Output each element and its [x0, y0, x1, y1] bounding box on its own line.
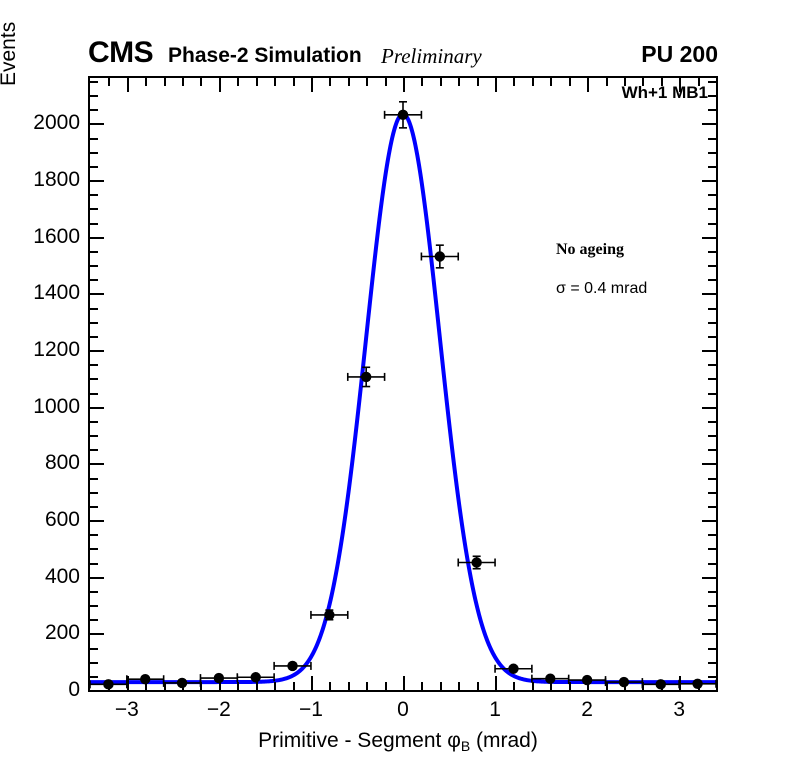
x-tick-minor	[624, 682, 626, 690]
x-tick-minor	[385, 682, 387, 690]
x-tick-label: −1	[281, 699, 341, 720]
x-tick-minor-top	[606, 78, 608, 86]
y-tick-minor	[90, 648, 98, 650]
x-tick-major	[587, 676, 589, 690]
y-tick-major	[90, 180, 104, 182]
y-tick-minor-right	[708, 563, 716, 565]
y-tick-minor-right	[708, 322, 716, 324]
y-tick-minor	[90, 548, 98, 550]
y-tick-minor	[90, 223, 98, 225]
x-tick-minor-top	[366, 78, 368, 86]
x-tick-minor-top	[477, 78, 479, 86]
x-tick-minor-top	[458, 78, 460, 86]
x-tick-minor	[200, 682, 202, 690]
cms-logo: CMS	[88, 38, 153, 68]
y-tick-minor	[90, 421, 98, 423]
y-tick-minor	[90, 208, 98, 210]
y-tick-minor	[90, 591, 98, 593]
y-tick-minor	[90, 364, 98, 366]
x-tick-major-top	[127, 78, 129, 92]
y-tick-minor-right	[708, 619, 716, 621]
x-tick-minor	[164, 682, 166, 690]
x-tick-minor-top	[532, 78, 534, 86]
x-tick-minor	[108, 682, 110, 690]
y-tick-label: 1200	[0, 339, 80, 360]
x-tick-label: 2	[557, 699, 617, 720]
y-tick-minor	[90, 81, 98, 83]
x-tick-label: −2	[189, 699, 249, 720]
x-tick-minor	[698, 682, 700, 690]
y-tick-minor	[90, 109, 98, 111]
x-tick-minor-top	[550, 78, 552, 86]
y-tick-major-right	[702, 463, 716, 465]
y-tick-minor-right	[708, 478, 716, 480]
y-tick-major	[90, 123, 104, 125]
y-tick-minor	[90, 308, 98, 310]
x-tick-major	[311, 676, 313, 690]
x-tick-major	[219, 676, 221, 690]
y-tick-minor	[90, 619, 98, 621]
y-tick-minor	[90, 435, 98, 437]
x-tick-minor	[274, 682, 276, 690]
x-tick-minor-top	[293, 78, 295, 86]
x-tick-minor	[661, 682, 663, 690]
y-tick-minor	[90, 138, 98, 140]
y-tick-major	[90, 237, 104, 239]
y-tick-minor-right	[708, 308, 716, 310]
x-tick-minor	[237, 682, 239, 690]
x-tick-major	[679, 676, 681, 690]
y-tick-minor-right	[708, 435, 716, 437]
y-tick-minor-right	[708, 208, 716, 210]
y-tick-minor-right	[708, 166, 716, 168]
y-axis-title: Events	[0, 0, 21, 86]
x-tick-minor	[421, 682, 423, 690]
x-tick-major-top	[495, 78, 497, 92]
y-tick-minor-right	[708, 449, 716, 451]
y-tick-minor-right	[708, 534, 716, 536]
x-tick-minor-top	[421, 78, 423, 86]
y-tick-minor-right	[708, 648, 716, 650]
x-tick-minor	[145, 682, 147, 690]
y-tick-major	[90, 577, 104, 579]
y-tick-major	[90, 690, 104, 692]
x-tick-major-top	[219, 78, 221, 92]
data-points	[90, 102, 716, 690]
x-tick-minor	[642, 682, 644, 690]
y-tick-major	[90, 350, 104, 352]
x-tick-label: 3	[649, 699, 709, 720]
y-tick-major-right	[702, 350, 716, 352]
x-axis-title: Primitive - Segment φB (mrad)	[0, 729, 796, 754]
preliminary-label: Preliminary	[381, 46, 482, 67]
y-tick-minor	[90, 676, 98, 678]
x-tick-minor	[366, 682, 368, 690]
y-tick-minor	[90, 605, 98, 607]
x-tick-minor-top	[237, 78, 239, 86]
axes-frame: Wh+1 MB1 No ageing σ = 0.4 mrad	[88, 76, 718, 692]
y-tick-minor	[90, 152, 98, 154]
y-tick-label: 200	[0, 622, 80, 643]
x-tick-minor	[477, 682, 479, 690]
x-axis-title-post: (mrad)	[470, 729, 538, 752]
y-tick-minor-right	[708, 548, 716, 550]
y-tick-major-right	[702, 633, 716, 635]
data-point	[471, 557, 481, 567]
y-tick-major	[90, 407, 104, 409]
y-tick-minor-right	[708, 421, 716, 423]
y-tick-label: 1800	[0, 169, 80, 190]
x-tick-minor-top	[256, 78, 258, 86]
x-axis-title-pre: Primitive - Segment	[258, 729, 447, 752]
x-tick-minor-top	[440, 78, 442, 86]
y-tick-label: 2000	[0, 112, 80, 133]
y-tick-major-right	[702, 123, 716, 125]
x-tick-minor	[606, 682, 608, 690]
y-tick-minor-right	[708, 393, 716, 395]
y-tick-label: 600	[0, 509, 80, 530]
y-tick-minor-right	[708, 95, 716, 97]
y-tick-minor-right	[708, 378, 716, 380]
y-tick-minor-right	[708, 506, 716, 508]
x-tick-minor	[348, 682, 350, 690]
y-tick-minor	[90, 194, 98, 196]
y-tick-minor	[90, 336, 98, 338]
x-tick-major-top	[679, 78, 681, 92]
data-point	[251, 672, 261, 682]
y-tick-minor-right	[708, 81, 716, 83]
y-tick-minor-right	[708, 279, 716, 281]
y-tick-minor	[90, 506, 98, 508]
x-tick-major	[127, 676, 129, 690]
y-tick-minor-right	[708, 676, 716, 678]
y-tick-major	[90, 463, 104, 465]
y-tick-minor	[90, 662, 98, 664]
x-tick-minor	[513, 682, 515, 690]
x-tick-minor	[182, 682, 184, 690]
y-tick-label: 400	[0, 566, 80, 587]
x-tick-minor	[256, 682, 258, 690]
y-tick-label: 1600	[0, 226, 80, 247]
x-tick-minor	[550, 682, 552, 690]
pileup-label: PU 200	[641, 43, 718, 66]
x-tick-major	[403, 676, 405, 690]
y-tick-minor	[90, 393, 98, 395]
y-tick-minor-right	[708, 591, 716, 593]
y-tick-minor	[90, 378, 98, 380]
y-tick-minor	[90, 478, 98, 480]
phi-subscript: B	[461, 738, 470, 754]
plot-canvas: CMS Phase-2 Simulation Preliminary PU 20…	[0, 0, 796, 772]
x-tick-major-top	[403, 78, 405, 92]
y-tick-major-right	[702, 577, 716, 579]
y-tick-label: 1400	[0, 282, 80, 303]
x-tick-minor-top	[164, 78, 166, 86]
y-tick-major-right	[702, 293, 716, 295]
x-tick-minor-top	[182, 78, 184, 86]
y-tick-major-right	[702, 180, 716, 182]
x-tick-minor-top	[200, 78, 202, 86]
x-tick-major-top	[311, 78, 313, 92]
x-tick-minor	[458, 682, 460, 690]
data-point	[435, 251, 445, 261]
y-tick-minor	[90, 563, 98, 565]
y-tick-minor-right	[708, 492, 716, 494]
data-point	[361, 372, 371, 382]
y-tick-minor	[90, 492, 98, 494]
y-tick-major	[90, 633, 104, 635]
y-tick-minor-right	[708, 662, 716, 664]
x-tick-minor-top	[108, 78, 110, 86]
gaussian-fit-curve	[90, 114, 716, 682]
y-tick-minor-right	[708, 138, 716, 140]
x-tick-minor-top	[348, 78, 350, 86]
y-tick-minor-right	[708, 251, 716, 253]
y-tick-minor	[90, 534, 98, 536]
y-tick-major-right	[702, 237, 716, 239]
y-tick-minor	[90, 251, 98, 253]
simulation-subtitle: Phase-2 Simulation	[168, 45, 362, 66]
y-tick-label: 0	[0, 679, 80, 700]
data-layer	[90, 78, 716, 690]
x-tick-minor	[569, 682, 571, 690]
y-tick-label: 1000	[0, 396, 80, 417]
y-tick-minor-right	[708, 194, 716, 196]
x-tick-minor	[329, 682, 331, 690]
x-tick-minor	[293, 682, 295, 690]
y-tick-minor-right	[708, 364, 716, 366]
y-tick-minor	[90, 449, 98, 451]
x-tick-minor-top	[642, 78, 644, 86]
y-tick-major	[90, 293, 104, 295]
x-tick-minor-top	[569, 78, 571, 86]
x-tick-label: 1	[465, 699, 525, 720]
data-point	[287, 661, 297, 671]
x-tick-major-top	[587, 78, 589, 92]
data-point	[508, 664, 518, 674]
y-tick-label: 800	[0, 452, 80, 473]
y-tick-minor-right	[708, 605, 716, 607]
y-tick-minor	[90, 279, 98, 281]
x-tick-minor	[440, 682, 442, 690]
x-tick-label: 0	[373, 699, 433, 720]
y-tick-minor-right	[708, 109, 716, 111]
x-tick-minor-top	[385, 78, 387, 86]
data-point	[398, 110, 408, 120]
y-tick-minor	[90, 265, 98, 267]
x-tick-minor-top	[145, 78, 147, 86]
y-tick-minor-right	[708, 265, 716, 267]
y-tick-minor-right	[708, 152, 716, 154]
y-tick-major-right	[702, 407, 716, 409]
y-tick-major-right	[702, 690, 716, 692]
y-tick-minor	[90, 166, 98, 168]
phi-symbol: φ	[447, 729, 461, 752]
y-tick-minor-right	[708, 223, 716, 225]
x-tick-minor-top	[661, 78, 663, 86]
data-point	[324, 610, 334, 620]
x-tick-minor-top	[329, 78, 331, 86]
x-tick-label: −3	[97, 699, 157, 720]
y-tick-minor-right	[708, 336, 716, 338]
x-tick-major	[495, 676, 497, 690]
x-tick-minor-top	[513, 78, 515, 86]
x-tick-minor-top	[274, 78, 276, 86]
x-tick-minor-top	[624, 78, 626, 86]
y-tick-minor	[90, 95, 98, 97]
y-tick-minor	[90, 322, 98, 324]
x-tick-minor-top	[698, 78, 700, 86]
x-tick-minor	[532, 682, 534, 690]
y-tick-major	[90, 520, 104, 522]
y-tick-major-right	[702, 520, 716, 522]
